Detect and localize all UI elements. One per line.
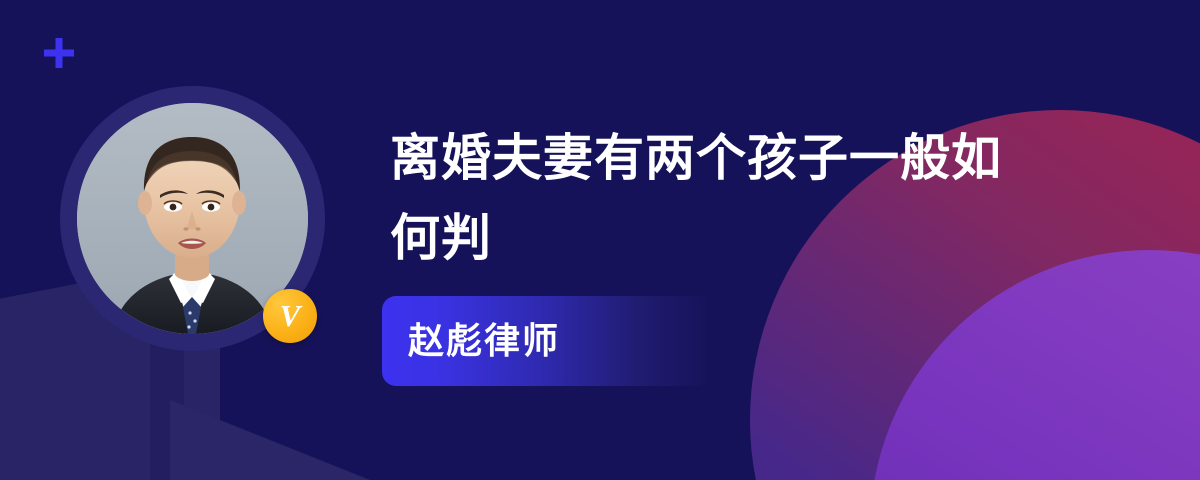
page-title: 离婚夫妻有两个孩子一般如何判 (390, 118, 1050, 278)
verified-badge-icon: V (263, 289, 317, 343)
lawyer-name-label: 赵彪律师 (408, 323, 560, 359)
gradient-blob-shape-secondary (870, 250, 1200, 480)
lawyer-name-button[interactable]: 赵彪律师 (382, 296, 712, 386)
verified-badge-glyph: V (280, 300, 301, 331)
plus-icon (42, 36, 76, 70)
lawyer-promo-banner: V 离婚夫妻有两个孩子一般如何判 赵彪律师 (0, 0, 1200, 480)
triangle-wedge-shape (170, 400, 370, 480)
content-block: 离婚夫妻有两个孩子一般如何判 (390, 118, 1090, 278)
vertical-band-shape (150, 330, 184, 480)
avatar[interactable]: V (60, 86, 325, 351)
